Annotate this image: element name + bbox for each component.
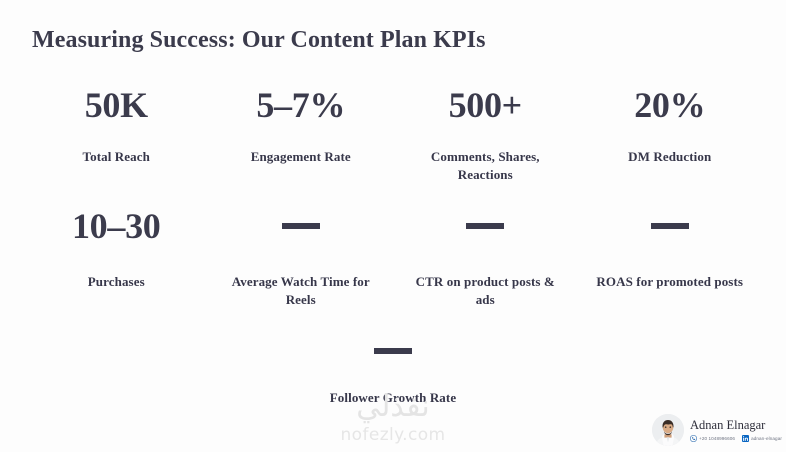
kpi-label: Follower Growth Rate	[330, 389, 456, 407]
kpi-value-placeholder-dash: —	[282, 205, 320, 247]
kpi-card-ctr: — CTR on product posts & ads	[393, 205, 578, 310]
contact-phone[interactable]: +20 1048996606	[690, 435, 735, 442]
avatar	[652, 414, 684, 446]
kpi-card-total-reach: 50K Total Reach	[24, 84, 209, 185]
phone-number: +20 1048996606	[699, 436, 735, 441]
kpi-label: Total Reach	[83, 148, 150, 166]
slide-canvas: Measuring Success: Our Content Plan KPIs…	[0, 0, 786, 452]
kpi-label: Engagement Rate	[251, 148, 351, 166]
kpi-value-placeholder-dash: —	[651, 205, 689, 247]
kpi-card-average-watch-time: — Average Watch Time for Reels	[209, 205, 394, 310]
linkedin-icon	[742, 435, 749, 442]
kpi-label: Average Watch Time for Reels	[223, 273, 378, 310]
kpi-row-2: 10–30 Purchases — Average Watch Time for…	[24, 205, 762, 310]
kpi-card-follower-growth-rate: — Follower Growth Rate	[293, 340, 493, 407]
kpi-value: 10–30	[72, 205, 161, 247]
kpi-label: ROAS for promoted posts	[596, 273, 743, 291]
contact-linkedin[interactable]: adnan-elnagar	[742, 435, 782, 442]
profile-name: Adnan Elnagar	[690, 418, 782, 432]
phone-icon	[690, 435, 697, 442]
profile-info: Adnan Elnagar +20 1048996606	[690, 418, 782, 441]
kpi-label: Comments, Shares, Reactions	[408, 148, 563, 185]
profile-contacts: +20 1048996606 adnan-elnagar	[690, 435, 782, 442]
page-title: Measuring Success: Our Content Plan KPIs	[32, 27, 486, 54]
kpi-card-purchases: 10–30 Purchases	[24, 205, 209, 310]
avatar-photo-illustration	[652, 414, 684, 446]
kpi-card-dm-reduction: 20% DM Reduction	[578, 84, 763, 185]
profile-badge[interactable]: Adnan Elnagar +20 1048996606	[652, 414, 782, 446]
kpi-value: 50K	[85, 84, 148, 126]
kpi-value: 20%	[634, 84, 705, 126]
kpi-row-1: 50K Total Reach 5–7% Engagement Rate 500…	[24, 84, 762, 185]
kpi-card-comments-shares-reactions: 500+ Comments, Shares, Reactions	[393, 84, 578, 185]
kpi-value: 500+	[449, 84, 522, 126]
kpi-label: DM Reduction	[628, 148, 711, 166]
kpi-card-roas: — ROAS for promoted posts	[578, 205, 763, 310]
kpi-value-placeholder-dash: —	[374, 340, 412, 362]
kpi-value: 5–7%	[256, 84, 345, 126]
kpi-value-placeholder-dash: —	[466, 205, 504, 247]
kpi-row-3: — Follower Growth Rate	[0, 340, 786, 407]
kpi-label: CTR on product posts & ads	[408, 273, 563, 310]
kpi-label: Purchases	[88, 273, 145, 291]
linkedin-handle: adnan-elnagar	[751, 436, 782, 441]
kpi-card-engagement-rate: 5–7% Engagement Rate	[209, 84, 394, 185]
